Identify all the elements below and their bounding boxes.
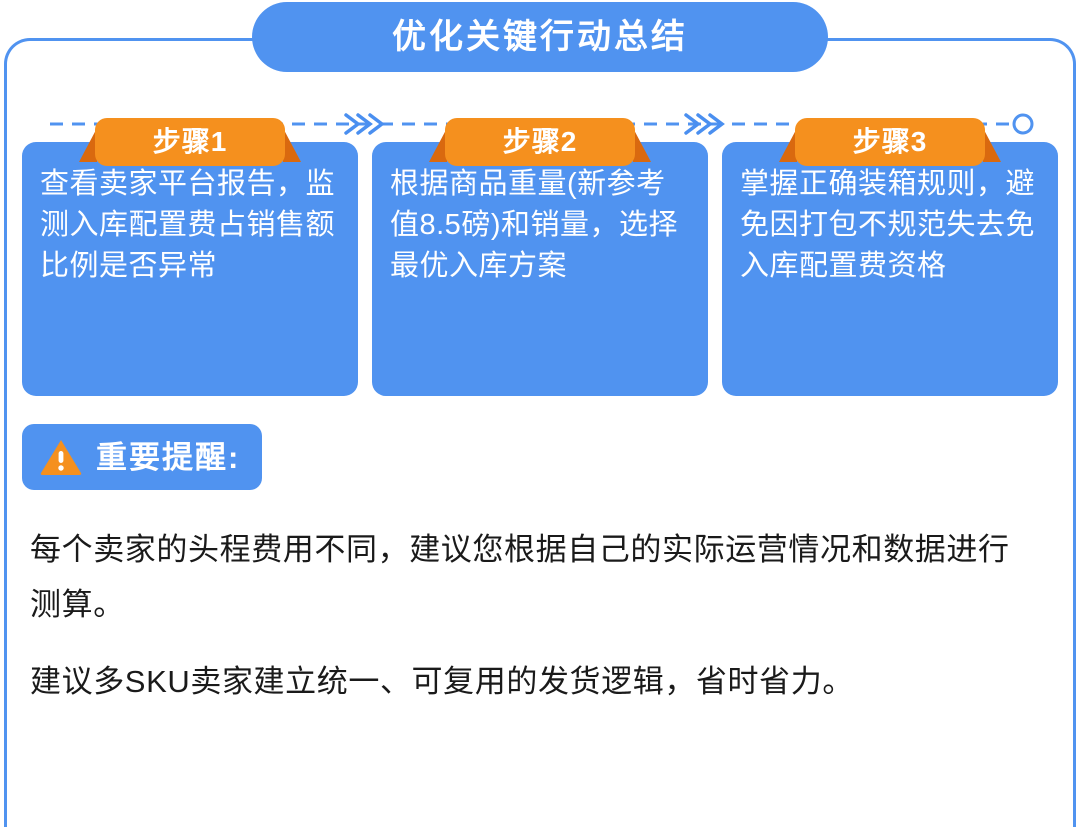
infographic-root: 优化关键行动总结 查看卖家平台报告，监测入库配置费占销售额比例是否异常 步骤1 … <box>0 0 1080 827</box>
step-3-badge-plate: 步骤3 <box>795 118 985 166</box>
ribbon-tail-right <box>633 128 651 162</box>
step-3-badge-label: 步骤3 <box>853 128 928 156</box>
step-3-text: 掌握正确装箱规则，避免因打包不规范失去免入库配置费资格 <box>740 164 1040 288</box>
step-card-1-body: 查看卖家平台报告，监测入库配置费占销售额比例是否异常 <box>22 142 358 396</box>
notice-paragraphs: 每个卖家的头程费用不同，建议您根据自己的实际运营情况和数据进行测算。 建议多SK… <box>30 522 1040 710</box>
step-1-badge-label: 步骤1 <box>153 128 228 156</box>
page-title-pill: 优化关键行动总结 <box>252 2 828 72</box>
step-2-badge-plate: 步骤2 <box>445 118 635 166</box>
ribbon-tail-right <box>983 128 1001 162</box>
page-title: 优化关键行动总结 <box>392 20 688 54</box>
step-1-badge: 步骤1 <box>95 118 285 166</box>
steps-row: 查看卖家平台报告，监测入库配置费占销售额比例是否异常 步骤1 根据商品重量(新参… <box>22 118 1058 398</box>
step-card-2: 根据商品重量(新参考值8.5磅)和销量，选择最优入库方案 步骤2 <box>372 118 708 398</box>
step-1-badge-plate: 步骤1 <box>95 118 285 166</box>
ribbon-tail-right <box>283 128 301 162</box>
important-notice-label: 重要提醒: <box>96 442 240 473</box>
important-notice-badge: 重要提醒: <box>22 424 262 490</box>
step-2-badge-label: 步骤2 <box>503 128 578 156</box>
paragraph-2: 建议多SKU卖家建立统一、可复用的发货逻辑，省时省力。 <box>30 654 1040 709</box>
step-card-3-body: 掌握正确装箱规则，避免因打包不规范失去免入库配置费资格 <box>722 142 1058 396</box>
step-card-1: 查看卖家平台报告，监测入库配置费占销售额比例是否异常 步骤1 <box>22 118 358 398</box>
step-3-badge: 步骤3 <box>795 118 985 166</box>
paragraph-1: 每个卖家的头程费用不同，建议您根据自己的实际运营情况和数据进行测算。 <box>30 522 1040 632</box>
step-2-text: 根据商品重量(新参考值8.5磅)和销量，选择最优入库方案 <box>390 164 690 288</box>
step-card-2-body: 根据商品重量(新参考值8.5磅)和销量，选择最优入库方案 <box>372 142 708 396</box>
step-2-badge: 步骤2 <box>445 118 635 166</box>
step-card-3: 掌握正确装箱规则，避免因打包不规范失去免入库配置费资格 步骤3 <box>722 118 1058 398</box>
warning-triangle-icon <box>40 438 82 476</box>
step-1-text: 查看卖家平台报告，监测入库配置费占销售额比例是否异常 <box>40 164 340 288</box>
